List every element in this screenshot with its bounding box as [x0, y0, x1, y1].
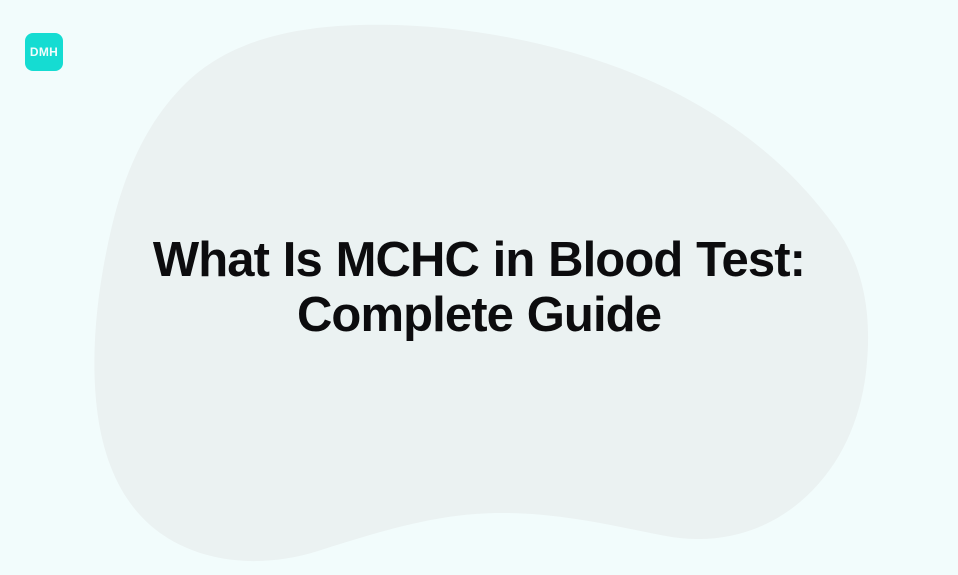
- blob-path: [94, 25, 868, 561]
- brand-logo-label: DMH: [30, 46, 58, 58]
- brand-logo[interactable]: DMH: [25, 33, 63, 71]
- cover-card: DMH What Is MCHC in Blood Test: Complete…: [0, 0, 958, 575]
- background-blob-shape: [0, 0, 958, 575]
